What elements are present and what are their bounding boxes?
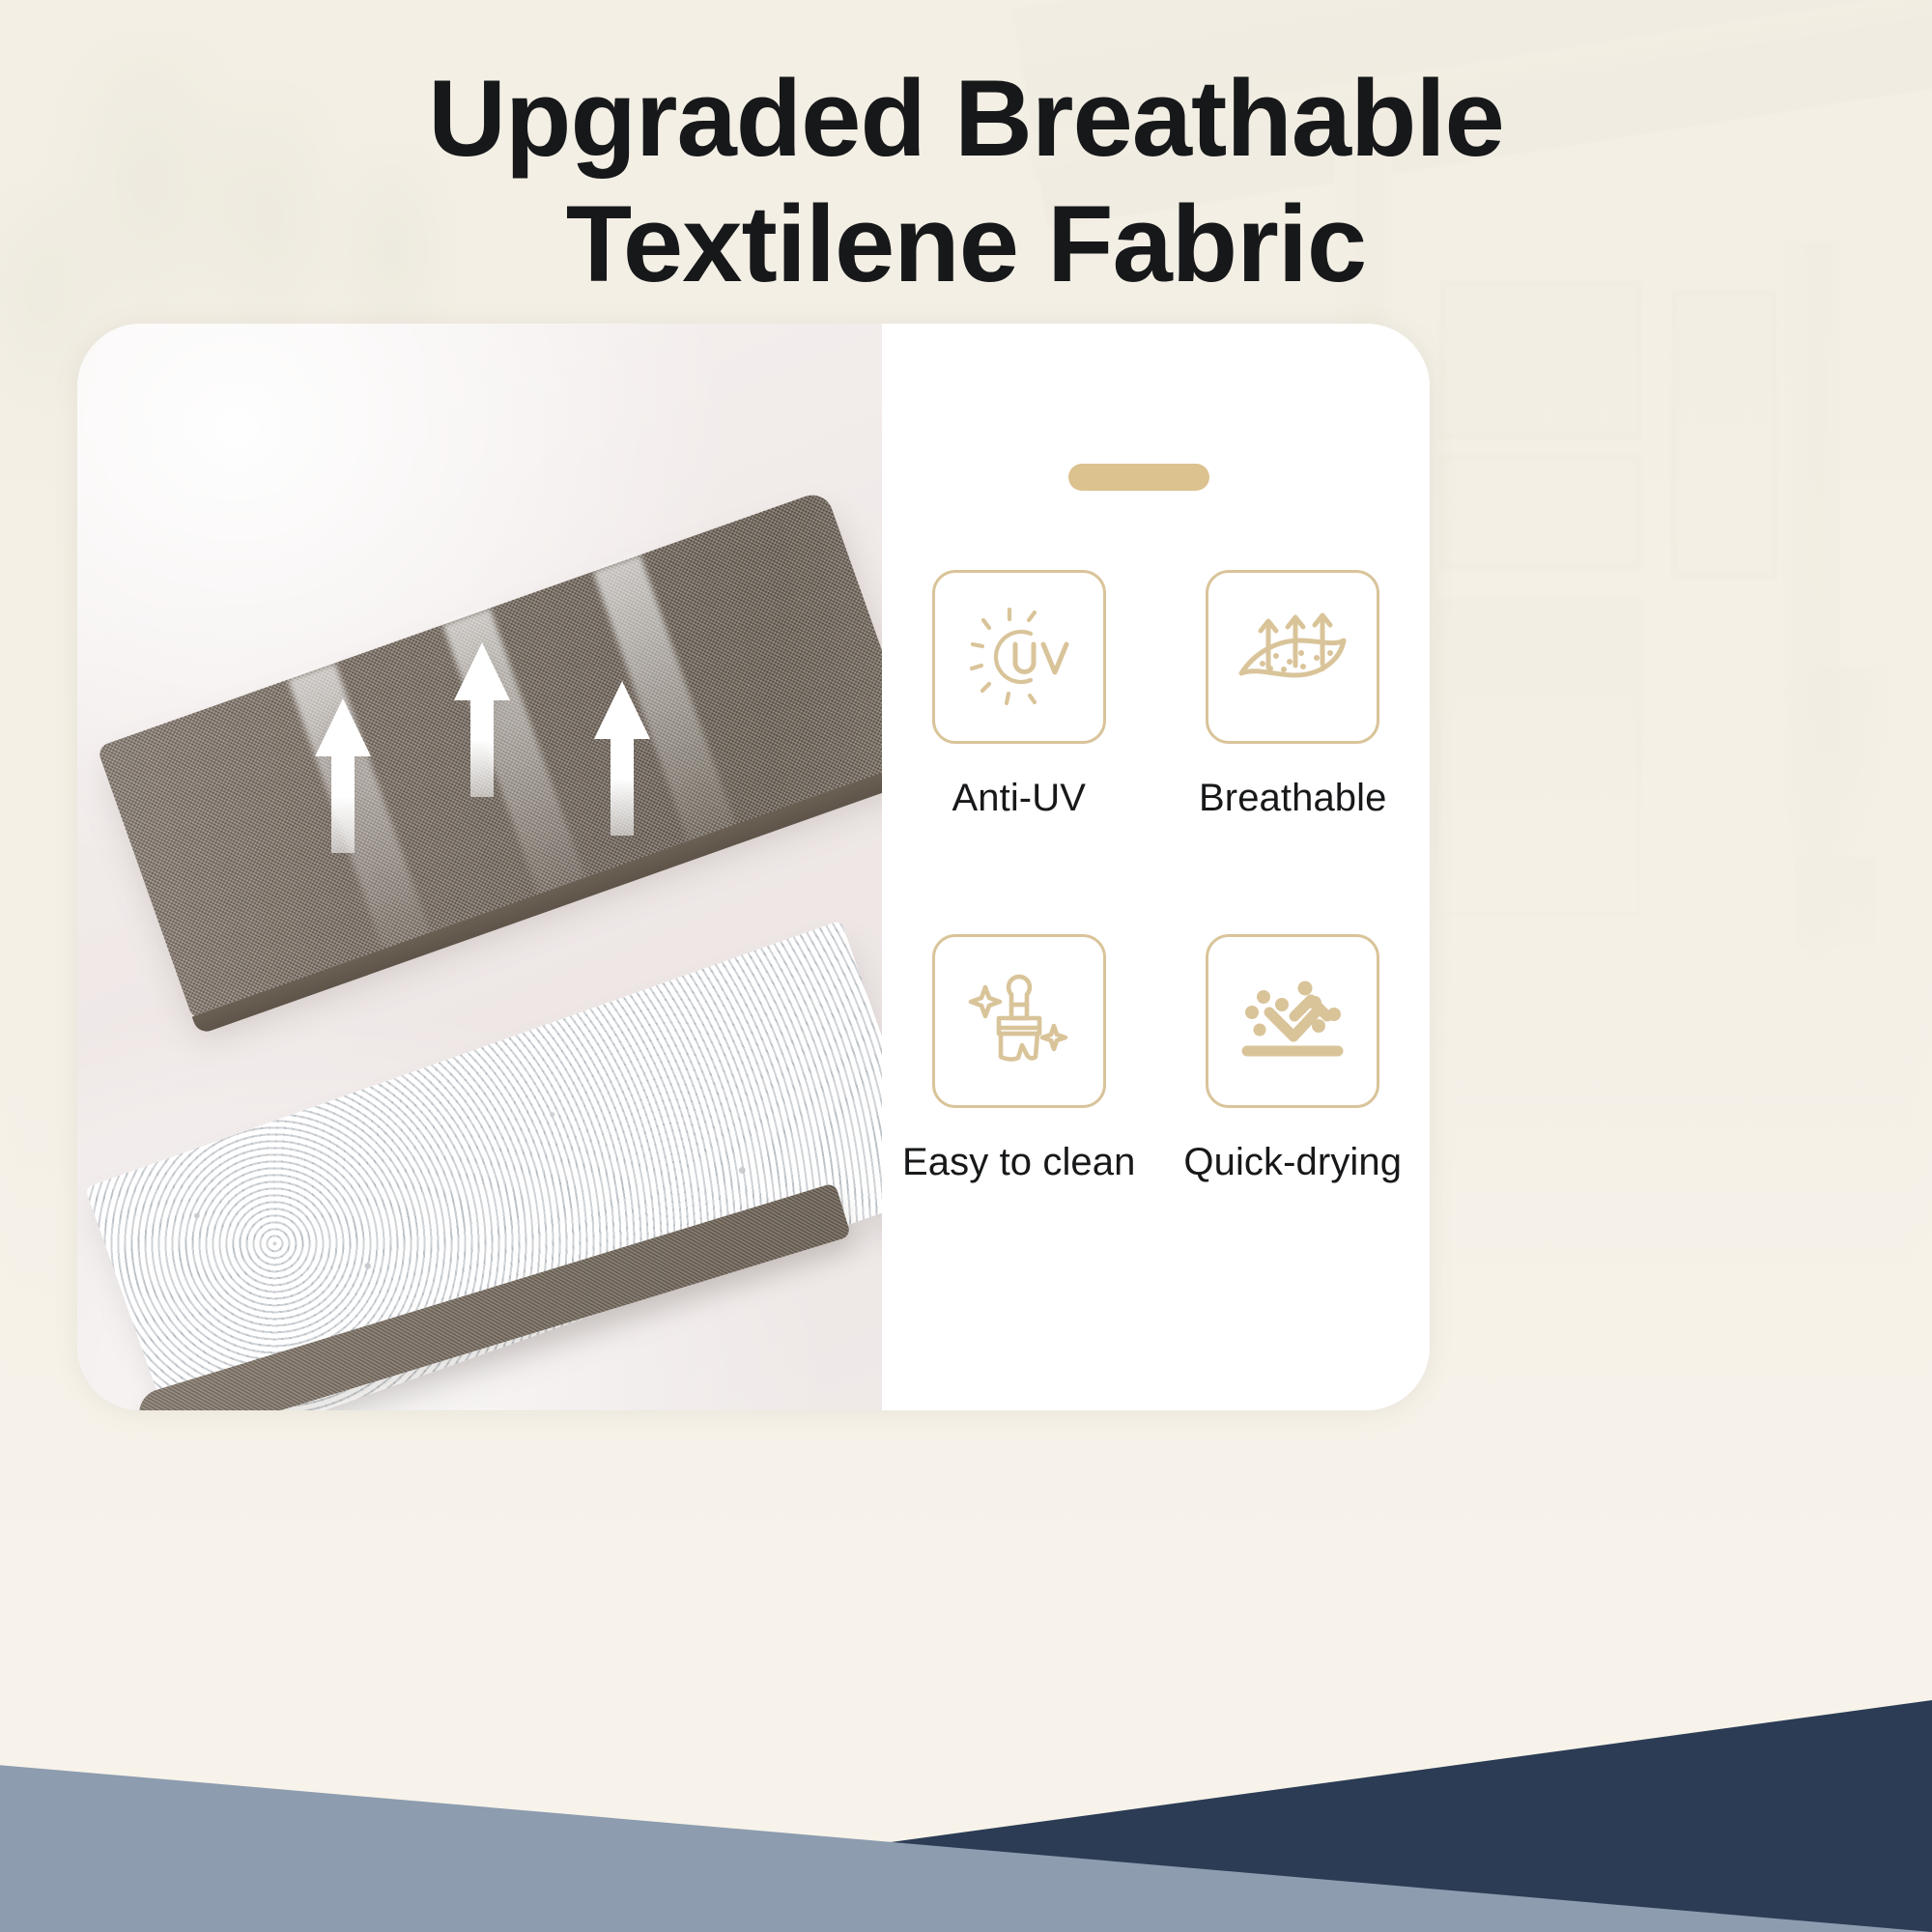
- feature-icon-tile: [932, 570, 1106, 744]
- feature-icon-tile: [1206, 570, 1379, 744]
- cleaning-brush-icon: [962, 964, 1076, 1078]
- feature-item-quick-drying: Quick-drying: [1157, 934, 1428, 1184]
- features-panel: Anti-UV: [882, 324, 1430, 1410]
- quick-drying-icon: [1234, 962, 1351, 1080]
- feature-item-breathable: Breathable: [1157, 570, 1428, 820]
- accent-bar: [1068, 464, 1209, 491]
- page-title: Upgraded Breathable Textilene Fabric: [0, 56, 1932, 307]
- feature-icon-tile: [1206, 934, 1379, 1108]
- arrow-head: [594, 681, 650, 739]
- content-card: Anti-UV: [77, 324, 1430, 1410]
- feature-label: Anti-UV: [952, 777, 1086, 820]
- product-photo-panel: [77, 324, 882, 1410]
- feature-label: Quick-drying: [1183, 1141, 1402, 1184]
- feature-item-anti-uv: Anti-UV: [884, 570, 1154, 820]
- page-title-line-1: Upgraded Breathable: [0, 56, 1932, 182]
- page-title-line-2: Textilene Fabric: [0, 182, 1932, 307]
- arrow-shaft: [470, 693, 494, 797]
- feature-item-easy-to-clean: Easy to clean: [884, 934, 1154, 1184]
- arrow-head: [315, 698, 371, 756]
- breathable-fabric-icon: [1234, 598, 1351, 716]
- arrow-head: [454, 642, 510, 700]
- feature-label: Breathable: [1199, 777, 1386, 820]
- arrow-shaft: [331, 749, 355, 853]
- uv-sun-icon: [961, 599, 1077, 715]
- feature-label: Easy to clean: [902, 1141, 1135, 1184]
- feature-grid: Anti-UV: [882, 570, 1430, 1184]
- feature-icon-tile: [932, 934, 1106, 1108]
- arrow-shaft: [611, 731, 634, 836]
